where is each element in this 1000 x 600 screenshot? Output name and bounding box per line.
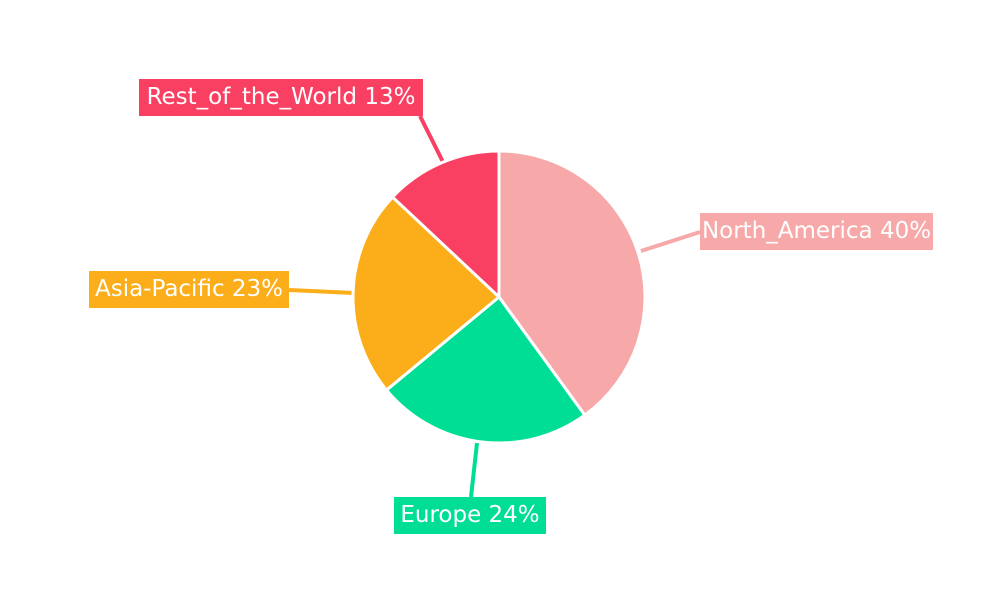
pie-label-text: North_America 40% (702, 220, 931, 243)
pie-label-north-america[interactable]: North_America 40% (700, 213, 933, 250)
pie-wedges-group (353, 151, 645, 443)
pie-label-text: Asia-Pacific 23% (95, 278, 283, 301)
pie-label-text: Rest_of_the_World 13% (147, 86, 416, 109)
pie-label-asia-pacific[interactable]: Asia-Pacific 23% (89, 271, 289, 308)
pie-label-text: Europe 24% (400, 504, 539, 527)
pie-chart-figure: North_America 40%Europe 24%Asia-Pacific … (0, 0, 1000, 600)
pie-label-rest-of-the-world[interactable]: Rest_of_the_World 13% (139, 79, 423, 116)
pie-label-europe[interactable]: Europe 24% (394, 497, 546, 534)
